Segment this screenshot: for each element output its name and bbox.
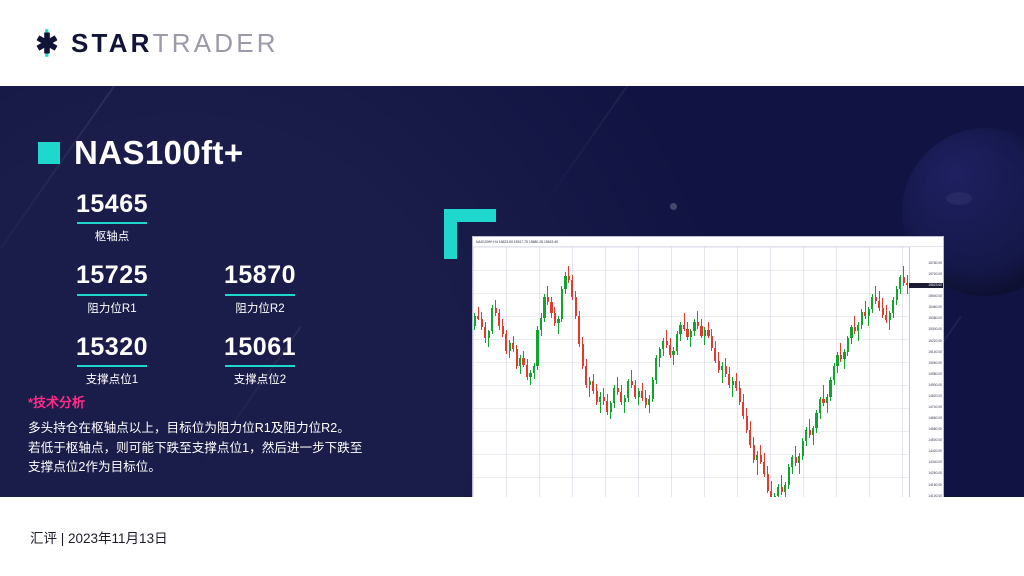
candle — [784, 247, 786, 497]
candle-wick — [865, 301, 866, 319]
candle — [896, 247, 898, 497]
page-header: STAR TRADER — [0, 0, 1024, 86]
candle-body — [495, 308, 497, 314]
candle-body — [781, 487, 783, 493]
candle — [554, 247, 556, 497]
candle-body — [871, 297, 873, 309]
candle — [578, 247, 580, 497]
candle-body — [746, 416, 748, 430]
candle-body — [645, 398, 647, 405]
candle-body — [693, 322, 695, 332]
candle-body — [704, 330, 706, 336]
candle-body — [498, 313, 500, 325]
candle-body — [620, 392, 622, 402]
chart-header: NAS100ft+,H4 15623.60 15517.75 15680.25 … — [473, 237, 943, 247]
candle — [529, 247, 531, 497]
candle-body — [634, 385, 636, 396]
candle — [906, 247, 908, 497]
level-value: 15320 — [38, 334, 186, 360]
candle — [833, 247, 835, 497]
candle — [627, 247, 629, 497]
candle — [889, 247, 891, 497]
candle-body — [613, 388, 615, 403]
candle-body — [850, 327, 852, 338]
candle — [770, 247, 772, 497]
candle — [592, 247, 594, 497]
candle-body — [795, 457, 797, 463]
candle — [756, 247, 758, 497]
candle — [711, 247, 713, 497]
price-tick-label: 15540.00 — [928, 295, 942, 298]
candle-body — [864, 312, 866, 316]
candle — [774, 247, 776, 497]
level-support-1: 15320 支撑点位1 — [38, 334, 186, 387]
candle-body — [540, 318, 542, 330]
candle-wick — [684, 313, 685, 331]
analysis-line-2: 若低于枢轴点，则可能下跌至支撑点位1，然后进一步下跌至 — [28, 439, 428, 459]
candle-body — [749, 430, 751, 445]
candle — [742, 247, 744, 497]
candle-body — [732, 381, 734, 385]
brand-star-text: STAR — [71, 30, 153, 56]
dot-decoration — [670, 203, 677, 210]
candle — [575, 247, 577, 497]
candle — [791, 247, 793, 497]
candle — [700, 247, 702, 497]
chart-plot-area[interactable] — [473, 247, 909, 497]
candle — [686, 247, 688, 497]
candle-wick — [589, 377, 590, 396]
candle-body — [536, 330, 538, 366]
candle — [878, 247, 880, 497]
candle-body — [742, 402, 744, 416]
candle-body — [885, 315, 887, 321]
candle-body — [756, 455, 758, 461]
candle-body — [739, 388, 741, 402]
candle-body — [906, 283, 908, 285]
candle — [481, 247, 483, 497]
candle — [854, 247, 856, 497]
candle-body — [575, 297, 577, 316]
candle-body — [505, 334, 507, 351]
candle-body — [784, 485, 786, 492]
candle — [882, 247, 884, 497]
candle-body — [707, 330, 709, 336]
candle-body — [474, 316, 476, 326]
candle — [672, 247, 674, 497]
price-tick-label: 14900.00 — [928, 384, 942, 387]
candle-body — [627, 381, 629, 398]
candle-body — [509, 343, 511, 351]
candle-wick — [722, 362, 723, 383]
candle-body — [753, 445, 755, 460]
candle-body — [812, 428, 814, 435]
candle-body — [554, 313, 556, 323]
candle-wick — [875, 286, 876, 304]
price-tick-label: 14420.00 — [928, 450, 942, 453]
candle-body — [491, 308, 493, 332]
level-label: 阻力位R2 — [186, 300, 334, 316]
candle-body — [718, 361, 720, 371]
candle — [704, 247, 706, 497]
candle — [631, 247, 633, 497]
candle — [571, 247, 573, 497]
level-resistance-2: 15870 阻力位R2 — [186, 262, 334, 315]
candle-body — [564, 276, 566, 288]
candle — [760, 247, 762, 497]
candle — [568, 247, 570, 497]
candle — [781, 247, 783, 497]
candle — [509, 247, 511, 497]
candle-body — [596, 391, 598, 402]
candle — [732, 247, 734, 497]
candle — [861, 247, 863, 497]
analysis-line-3: 支撑点位2作为目标位。 — [28, 458, 428, 478]
candle — [864, 247, 866, 497]
candle-body — [788, 467, 790, 485]
candle-wick — [666, 330, 667, 348]
candle-body — [582, 344, 584, 366]
candle-body — [882, 308, 884, 315]
candle — [718, 247, 720, 497]
candle — [655, 247, 657, 497]
level-underline — [77, 365, 147, 367]
candle-body — [652, 380, 654, 399]
analysis-line-1: 多头持仓在枢轴点以上，目标位为阻力位R1及阻力位R2。 — [28, 419, 428, 439]
candle — [899, 247, 901, 497]
candle — [666, 247, 668, 497]
candle — [826, 247, 828, 497]
candle-body — [631, 381, 633, 385]
candle — [829, 247, 831, 497]
candle-body — [679, 325, 681, 335]
candle — [777, 247, 779, 497]
candle — [697, 247, 699, 497]
candle — [543, 247, 545, 497]
candle-body — [502, 326, 504, 334]
level-label: 阻力位R1 — [38, 300, 186, 316]
price-tick-label: 15140.00 — [928, 351, 942, 354]
candle — [819, 247, 821, 497]
footer-date: 汇评 | 2023年11月13日 — [30, 527, 168, 547]
candle — [767, 247, 769, 497]
candle — [596, 247, 598, 497]
main-panel: NAS100ft+ 15465 枢轴点 15725 阻力位R1 15870 — [0, 86, 1024, 497]
candle — [589, 247, 591, 497]
candle — [634, 247, 636, 497]
candle — [788, 247, 790, 497]
candle — [585, 247, 587, 497]
candle-body — [512, 343, 514, 350]
candle — [676, 247, 678, 497]
candle-body — [798, 456, 800, 463]
candle — [871, 247, 873, 497]
candle — [763, 247, 765, 497]
candle-body — [868, 309, 870, 316]
candlestick-series — [473, 247, 909, 497]
candle-body — [568, 276, 570, 280]
candle — [488, 247, 490, 497]
candle-body — [603, 397, 605, 401]
candle-wick — [568, 266, 569, 283]
chart-header-text: NAS100ft+,H4 15623.60 15517.75 15680.25 … — [476, 240, 558, 244]
price-tick-label: 14820.00 — [928, 395, 942, 398]
candle-body — [809, 430, 811, 436]
candle — [536, 247, 538, 497]
candle — [749, 247, 751, 497]
candle-wick — [631, 370, 632, 388]
candle-body — [624, 398, 626, 402]
instrument-title-row: NAS100ft+ — [38, 134, 244, 172]
candle — [502, 247, 504, 497]
candle-body — [763, 462, 765, 474]
candle — [557, 247, 559, 497]
candle — [739, 247, 741, 497]
candle — [746, 247, 748, 497]
candle — [802, 247, 804, 497]
candle — [526, 247, 528, 497]
price-tick-label: 14580.00 — [928, 428, 942, 431]
candle-body — [578, 316, 580, 344]
candle — [540, 247, 542, 497]
candle-body — [522, 358, 524, 365]
candle-body — [526, 365, 528, 377]
candle — [662, 247, 664, 497]
candle — [648, 247, 650, 497]
page-title: NAS100ft+ — [74, 134, 244, 172]
candle — [522, 247, 524, 497]
candle — [812, 247, 814, 497]
current-price-tag: 15623.60 — [909, 283, 943, 288]
candle — [645, 247, 647, 497]
candle-body — [767, 474, 769, 491]
level-value: 15465 — [38, 191, 186, 217]
candle — [550, 247, 552, 497]
candle-body — [889, 313, 891, 320]
level-value: 15061 — [186, 334, 334, 360]
candle — [610, 247, 612, 497]
candle — [735, 247, 737, 497]
price-tick-label: 14740.00 — [928, 406, 942, 409]
candle — [603, 247, 605, 497]
candle-body — [875, 297, 877, 301]
candle-body — [547, 297, 549, 303]
title-swatch-icon — [38, 142, 60, 164]
candle — [836, 247, 838, 497]
brand-logo: STAR TRADER — [30, 26, 279, 60]
candle — [693, 247, 695, 497]
candle-body — [826, 397, 828, 404]
brand-trader-text: TRADER — [153, 30, 279, 56]
price-tick-label: 14260.00 — [928, 472, 942, 475]
pivot-row: 15465 枢轴点 — [38, 191, 368, 262]
candle — [847, 247, 849, 497]
candle — [728, 247, 730, 497]
candle-body — [686, 329, 688, 337]
candle-body — [592, 381, 594, 391]
candle-body — [854, 327, 856, 331]
candle-body — [533, 366, 535, 373]
candle — [707, 247, 709, 497]
candle — [679, 247, 681, 497]
candle-body — [815, 413, 817, 428]
price-tick-label: 15060.00 — [928, 362, 942, 365]
candle — [659, 247, 661, 497]
candle — [809, 247, 811, 497]
level-label: 枢轴点 — [38, 228, 186, 244]
asterisk-star-icon — [30, 26, 64, 60]
candle — [547, 247, 549, 497]
candle — [582, 247, 584, 497]
page-footer: 汇评 | 2023年11月13日 — [0, 497, 1024, 576]
candle — [484, 247, 486, 497]
candle-body — [676, 334, 678, 351]
candle-body — [728, 374, 730, 385]
price-axis[interactable]: 15780.0015700.0015620.0015540.0015460.00… — [909, 247, 943, 497]
candle — [505, 247, 507, 497]
candle — [868, 247, 870, 497]
candle-body — [571, 280, 573, 297]
candle — [477, 247, 479, 497]
candle-body — [819, 399, 821, 413]
price-tick-label: 14340.00 — [928, 461, 942, 464]
candle — [753, 247, 755, 497]
level-underline — [225, 294, 295, 296]
candle — [512, 247, 514, 497]
candle-body — [655, 358, 657, 380]
candle-body — [822, 399, 824, 403]
candle — [885, 247, 887, 497]
candle-body — [896, 289, 898, 300]
candle-body — [690, 331, 692, 337]
level-underline — [225, 365, 295, 367]
candle-body — [843, 352, 845, 359]
candle-body — [840, 355, 842, 359]
candle-body — [610, 403, 612, 411]
candle-body — [641, 391, 643, 398]
candle-body — [659, 349, 661, 357]
candle-body — [550, 302, 552, 313]
level-underline — [77, 294, 147, 296]
candle-body — [714, 348, 716, 360]
candle-body — [836, 355, 838, 366]
candle-body — [557, 319, 559, 323]
candle-body — [585, 366, 587, 385]
candle-body — [561, 289, 563, 319]
candle-wick — [854, 316, 855, 334]
resistance-row: 15725 阻力位R1 15870 阻力位R2 — [38, 262, 368, 333]
candle-body — [697, 322, 699, 326]
candle — [721, 247, 723, 497]
candle-body — [648, 399, 650, 405]
candle-body — [669, 345, 671, 355]
candle — [564, 247, 566, 497]
candle-body — [725, 366, 727, 374]
candle-body — [484, 327, 486, 338]
candle-body — [666, 341, 668, 345]
candle — [613, 247, 615, 497]
level-label: 支撑点位2 — [186, 371, 334, 387]
candle — [857, 247, 859, 497]
candle-body — [481, 319, 483, 327]
candle-body — [861, 312, 863, 324]
candle-body — [805, 430, 807, 441]
candle — [815, 247, 817, 497]
candle-body — [529, 373, 531, 377]
candle — [498, 247, 500, 497]
candle — [683, 247, 685, 497]
price-tick-label: 14980.00 — [928, 373, 942, 376]
candle — [875, 247, 877, 497]
candle-body — [791, 457, 793, 467]
price-tick-label: 14500.00 — [928, 439, 942, 442]
streak-decoration — [537, 86, 642, 215]
candle — [652, 247, 654, 497]
price-tick-label: 15220.00 — [928, 340, 942, 343]
candle-body — [599, 397, 601, 403]
candle — [599, 247, 601, 497]
candle — [725, 247, 727, 497]
price-chart[interactable]: NAS100ft+,H4 15623.60 15517.75 15680.25 … — [472, 236, 944, 497]
analysis-heading: *技术分析 — [28, 392, 428, 411]
candle-body — [829, 380, 831, 397]
price-tick-label: 15700.00 — [928, 273, 942, 276]
startrader-market-card: STAR TRADER NAS100ft+ 15465 枢轴点 — [0, 0, 1024, 576]
price-tick-label: 15380.00 — [928, 317, 942, 320]
candle — [892, 247, 894, 497]
candle-body — [899, 277, 901, 288]
price-tick-label: 15460.00 — [928, 306, 942, 309]
candle — [474, 247, 476, 497]
candle — [690, 247, 692, 497]
candle — [798, 247, 800, 497]
candle-body — [617, 388, 619, 392]
candle-body — [802, 441, 804, 456]
candle — [561, 247, 563, 497]
candle-body — [857, 325, 859, 332]
candle-body — [519, 358, 521, 366]
candle-body — [662, 341, 664, 349]
candle — [669, 247, 671, 497]
candle — [903, 247, 905, 497]
candle — [795, 247, 797, 497]
level-pivot: 15465 枢轴点 — [38, 191, 186, 244]
candle-body — [543, 297, 545, 318]
candle-body — [903, 277, 905, 283]
technical-analysis: *技术分析 多头持仓在枢轴点以上，目标位为阻力位R1及阻力位R2。 若低于枢轴点… — [28, 392, 428, 478]
candle-body — [488, 331, 490, 338]
candle — [714, 247, 716, 497]
candle-body — [892, 300, 894, 314]
level-support-2: 15061 支撑点位2 — [186, 334, 334, 387]
candle — [624, 247, 626, 497]
level-value: 15870 — [186, 262, 334, 288]
candle-body — [516, 349, 518, 366]
price-tick-label: 15780.00 — [928, 262, 942, 265]
candle — [617, 247, 619, 497]
candle-body — [638, 391, 640, 397]
candle-body — [777, 487, 779, 497]
candle-wick — [600, 392, 601, 413]
candle-body — [589, 381, 591, 385]
candle-body — [700, 326, 702, 336]
price-tick-label: 15300.00 — [928, 328, 942, 331]
candle-wick — [697, 311, 698, 329]
brand-wordmark: STAR TRADER — [71, 30, 279, 56]
candle-body — [721, 366, 723, 370]
candle-body — [672, 351, 674, 355]
level-underline — [77, 222, 147, 224]
